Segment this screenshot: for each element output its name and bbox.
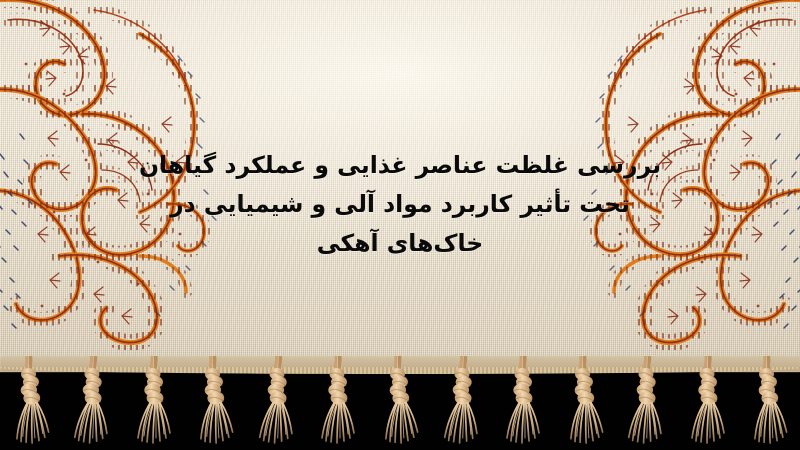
tassel	[440, 355, 483, 448]
tassel	[625, 355, 668, 448]
tassel	[318, 356, 358, 448]
tassel	[562, 355, 607, 449]
title-line-2: تحت تأثیر کاربرد مواد آلی و شیمیایی در	[120, 185, 680, 224]
tassel	[747, 355, 792, 449]
slide-title: بررسی غلظت عناصر غذایی و عملکرد گیاهان ت…	[120, 146, 680, 263]
tassel	[688, 356, 728, 448]
title-line-3: خاک‌های آهکی	[120, 224, 680, 263]
tassel	[378, 355, 423, 449]
tassel-fringe	[0, 356, 800, 450]
title-slide: بررسی غلظت عناصر غذایی و عملکرد گیاهان ت…	[0, 0, 800, 450]
tassel	[8, 355, 53, 449]
tassel	[193, 355, 238, 449]
tassel	[134, 356, 174, 448]
tassel	[255, 355, 298, 448]
tassel	[503, 356, 543, 448]
tassel	[71, 355, 114, 448]
title-line-1: بررسی غلظت عناصر غذایی و عملکرد گیاهان	[120, 146, 680, 185]
